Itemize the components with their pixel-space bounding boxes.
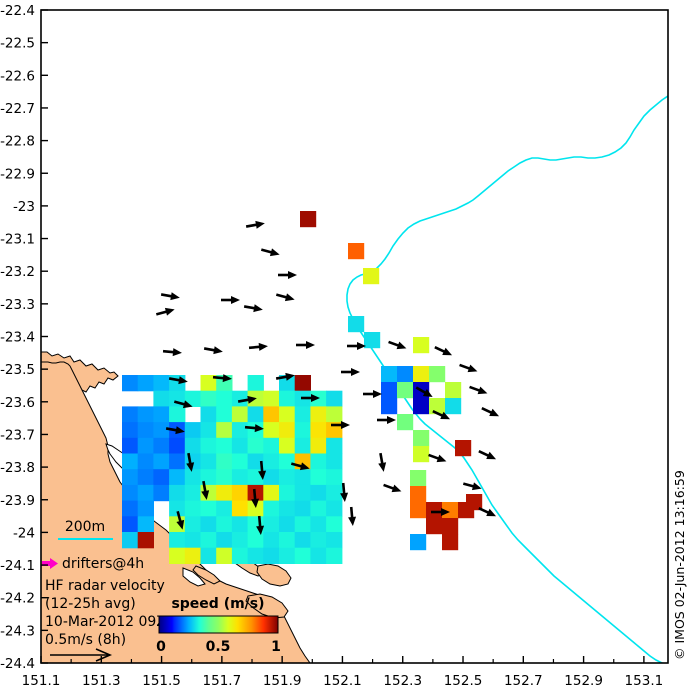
heatmap-cell	[201, 548, 217, 564]
x-tick-label: 152.5	[444, 673, 483, 689]
depth-contour-label: 200m	[65, 519, 105, 535]
heatmap-cell	[169, 485, 185, 501]
heatmap-cell	[122, 516, 138, 532]
heatmap-cell	[216, 469, 232, 485]
heatmap-cell	[153, 406, 169, 422]
y-tick-label: -23.3	[0, 297, 35, 313]
heatmap-cell	[263, 406, 279, 422]
heatmap-cell	[232, 469, 248, 485]
y-tick-label: -24.2	[0, 591, 35, 607]
heatmap-cell	[122, 422, 138, 438]
heatmap-cell	[263, 501, 279, 517]
y-tick-label: -23.6	[0, 395, 35, 411]
legend-line-1: HF radar velocity	[45, 578, 165, 594]
y-tick-label: -24.4	[0, 656, 35, 672]
heatmap-cell	[122, 406, 138, 422]
y-tick-label: -24	[13, 525, 35, 541]
heatmap-cell	[413, 398, 429, 414]
heatmap-cell	[138, 422, 154, 438]
heatmap-cell	[201, 438, 217, 454]
heatmap-cell	[232, 532, 248, 548]
map-canvas: 200m drifters@4h HF radar velocity (12-2…	[0, 0, 700, 700]
heatmap-cell	[216, 532, 232, 548]
colorbar-tick-mid: 0.5	[206, 639, 231, 655]
heatmap-cell	[138, 454, 154, 470]
heatmap-cell	[279, 532, 295, 548]
heatmap-cell	[263, 548, 279, 564]
heatmap-cell	[279, 548, 295, 564]
heatmap-cell	[326, 469, 342, 485]
heatmap-cell	[122, 469, 138, 485]
legend-line-4: 0.5m/s (8h)	[45, 632, 126, 648]
heatmap-cell	[326, 532, 342, 548]
heatmap-cell	[216, 516, 232, 532]
heatmap-cell	[122, 501, 138, 517]
heatmap-cell	[310, 516, 326, 532]
heatmap-cell	[263, 469, 279, 485]
heatmap-cell	[381, 398, 397, 414]
heatmap-cell	[310, 406, 326, 422]
heatmap-cell	[169, 548, 185, 564]
heatmap-cell	[310, 532, 326, 548]
colorbar-gradient	[159, 616, 278, 633]
heatmap-cell	[216, 422, 232, 438]
heatmap-cell	[413, 337, 429, 353]
heatmap-cell	[426, 518, 442, 534]
heatmap-cell	[413, 430, 429, 446]
heatmap-cell	[263, 516, 279, 532]
heatmap-cell	[279, 485, 295, 501]
x-tick-label: 151.7	[203, 673, 242, 689]
heatmap-cell	[138, 406, 154, 422]
heatmap-cell	[138, 469, 154, 485]
y-tick-label: -24.3	[0, 623, 35, 639]
heatmap-cell	[410, 534, 426, 550]
heatmap-cell	[216, 485, 232, 501]
heatmap-cell	[232, 485, 248, 501]
heatmap-cell	[153, 438, 169, 454]
y-tick-label: -22.7	[0, 101, 35, 117]
heatmap-cell	[397, 414, 413, 430]
heatmap-cell	[169, 438, 185, 454]
heatmap-cell	[201, 406, 217, 422]
heatmap-cell	[138, 375, 154, 391]
heatmap-cell	[122, 485, 138, 501]
heatmap-cell	[153, 422, 169, 438]
heatmap-cell	[232, 422, 248, 438]
heatmap-cell	[348, 243, 364, 259]
heatmap-cell	[295, 548, 311, 564]
heatmap-cell	[295, 516, 311, 532]
heatmap-cell	[169, 532, 185, 548]
x-tick-label: 153.1	[625, 673, 664, 689]
heatmap-cell	[153, 454, 169, 470]
heatmap-cell	[138, 516, 154, 532]
heatmap-cell	[326, 406, 342, 422]
y-tick-label: -23.1	[0, 232, 35, 248]
heatmap-cell	[263, 485, 279, 501]
heatmap-cell	[122, 438, 138, 454]
heatmap-cell	[232, 391, 248, 407]
y-tick-label: -22.8	[0, 134, 35, 150]
x-tick-label: 151.5	[142, 673, 181, 689]
heatmap-cell	[429, 366, 445, 382]
heatmap-cell	[310, 548, 326, 564]
heatmap-cell	[413, 446, 429, 462]
heatmap-cell	[232, 406, 248, 422]
heatmap-cell	[185, 516, 201, 532]
heatmap-cell	[410, 486, 426, 502]
heatmap-cell	[232, 516, 248, 532]
heatmap-cell	[169, 375, 185, 391]
heatmap-cell	[279, 501, 295, 517]
heatmap-cell	[295, 485, 311, 501]
heatmap-cell	[445, 398, 461, 414]
heatmap-cell	[122, 375, 138, 391]
heatmap-cell	[248, 548, 264, 564]
heatmap-cell	[248, 438, 264, 454]
heatmap-cell	[201, 501, 217, 517]
heatmap-cell	[348, 316, 364, 332]
y-tick-label: -24.1	[0, 558, 35, 574]
y-tick-label: -22.4	[0, 3, 35, 19]
heatmap-cell	[279, 406, 295, 422]
heatmap-cell	[326, 516, 342, 532]
heatmap-cell	[410, 502, 426, 518]
heatmap-cell	[381, 366, 397, 382]
heatmap-cell	[381, 382, 397, 398]
heatmap-cell	[185, 422, 201, 438]
heatmap-cell	[185, 532, 201, 548]
heatmap-cell	[295, 406, 311, 422]
y-tick-label: -23.9	[0, 493, 35, 509]
heatmap-cell	[455, 440, 471, 456]
heatmap-cell	[442, 534, 458, 550]
legend-line-3: 10-Mar-2012 09Z	[45, 614, 166, 630]
colorbar-tick-max: 1	[271, 639, 281, 655]
heatmap-cell	[397, 366, 413, 382]
x-axis-labels: 151.1151.3151.5151.7151.9152.1152.3152.5…	[22, 673, 664, 689]
heatmap-cell	[216, 548, 232, 564]
heatmap-cell	[185, 501, 201, 517]
heatmap-cell	[201, 532, 217, 548]
heatmap-cell	[232, 454, 248, 470]
heatmap-cell	[201, 454, 217, 470]
y-tick-label: -22.9	[0, 166, 35, 182]
heatmap-cell	[326, 485, 342, 501]
heatmap-cell	[279, 469, 295, 485]
heatmap-cell	[410, 470, 426, 486]
heatmap-cell	[185, 485, 201, 501]
x-tick-label: 151.3	[82, 673, 121, 689]
heatmap-cell	[153, 375, 169, 391]
heatmap-cell	[216, 438, 232, 454]
heatmap-cell	[263, 422, 279, 438]
heatmap-cell	[216, 391, 232, 407]
x-tick-label: 151.1	[22, 673, 61, 689]
heatmap-cell	[122, 532, 138, 548]
heatmap-cell	[295, 422, 311, 438]
heatmap-cell	[185, 548, 201, 564]
heatmap-cell	[295, 469, 311, 485]
heatmap-cell	[300, 211, 316, 227]
heatmap-cell	[364, 332, 380, 348]
heatmap-cell	[248, 532, 264, 548]
heatmap-cell	[138, 501, 154, 517]
heatmap-cell	[201, 422, 217, 438]
heatmap-cell	[201, 391, 217, 407]
heatmap-cell	[295, 375, 311, 391]
heatmap-cell	[326, 438, 342, 454]
heatmap-cell	[169, 454, 185, 470]
y-tick-label: -23.8	[0, 460, 35, 476]
x-tick-label: 152.3	[383, 673, 422, 689]
heatmap-cell	[216, 454, 232, 470]
heatmap-cell	[295, 532, 311, 548]
heatmap-cell	[248, 375, 264, 391]
heatmap-cell	[263, 454, 279, 470]
heatmap-cell	[326, 548, 342, 564]
heatmap-cell	[310, 469, 326, 485]
heatmap-cell	[413, 366, 429, 382]
heatmap-cell	[445, 382, 461, 398]
heatmap-cell	[201, 516, 217, 532]
heatmap-cell	[295, 438, 311, 454]
heatmap-cell	[138, 485, 154, 501]
heatmap-cell	[310, 454, 326, 470]
heatmap-cell	[122, 454, 138, 470]
legend-line-2: (12-25h avg)	[45, 596, 136, 612]
heatmap-cell	[248, 406, 264, 422]
heatmap-cell	[310, 422, 326, 438]
heatmap-cell	[232, 501, 248, 517]
heatmap-cell	[310, 485, 326, 501]
heatmap-cell	[216, 406, 232, 422]
heatmap-cell	[263, 391, 279, 407]
heatmap-cell	[153, 485, 169, 501]
heatmap-cell	[426, 502, 442, 518]
colorbar-title: speed (m/s)	[171, 596, 264, 612]
y-tick-label: -23.7	[0, 427, 35, 443]
heatmap-cell	[279, 454, 295, 470]
y-tick-label: -23.5	[0, 362, 35, 378]
heatmap-cell	[442, 518, 458, 534]
heatmap-cell	[310, 438, 326, 454]
heatmap-cell	[310, 501, 326, 517]
y-tick-label: -23.4	[0, 330, 35, 346]
heatmap-cell	[326, 454, 342, 470]
heatmap-cell	[185, 438, 201, 454]
drifters-label: drifters@4h	[62, 556, 144, 572]
colorbar-tick-0: 0	[156, 639, 166, 655]
y-tick-label: -22.6	[0, 68, 35, 84]
heatmap-cell	[263, 532, 279, 548]
heatmap-cell	[326, 391, 342, 407]
heatmap-cell	[232, 438, 248, 454]
y-tick-label: -22.5	[0, 36, 35, 52]
heatmap-cell	[232, 548, 248, 564]
copyright-text: © IMOS 02-Jun-2012 13:16:59	[672, 470, 687, 660]
x-tick-label: 152.7	[504, 673, 543, 689]
heatmap-cell	[138, 438, 154, 454]
heatmap-cell	[216, 501, 232, 517]
heatmap-cell	[326, 501, 342, 517]
heatmap-cell	[263, 438, 279, 454]
heatmap-cell	[397, 382, 413, 398]
heatmap-cell	[153, 391, 169, 407]
heatmap-cell	[169, 406, 185, 422]
heatmap-cell	[185, 469, 201, 485]
y-tick-label: -23	[13, 199, 35, 215]
heatmap-cell	[185, 454, 201, 470]
heatmap-cell	[279, 438, 295, 454]
heatmap-cell	[279, 422, 295, 438]
heatmap-cell	[279, 391, 295, 407]
heatmap-cell	[363, 268, 379, 284]
heatmap-cell	[279, 516, 295, 532]
x-tick-label: 152.9	[564, 673, 603, 689]
x-tick-label: 152.1	[323, 673, 362, 689]
heatmap-cell	[138, 532, 154, 548]
y-axis-labels: -22.4-22.5-22.6-22.7-22.8-22.9-23-23.1-2…	[0, 3, 35, 672]
map-figure: 200m drifters@4h HF radar velocity (12-2…	[0, 0, 700, 700]
heatmap-cell	[169, 469, 185, 485]
x-tick-label: 151.9	[263, 673, 302, 689]
heatmap-cell	[295, 501, 311, 517]
y-tick-label: -23.2	[0, 264, 35, 280]
heatmap-cell	[153, 469, 169, 485]
